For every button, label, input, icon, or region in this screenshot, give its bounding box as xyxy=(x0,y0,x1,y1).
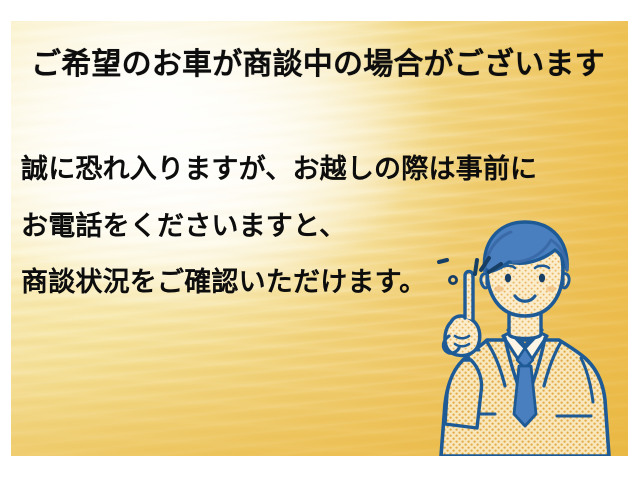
businessman-pointing-up-illustration xyxy=(425,218,625,456)
body-line-3: 商談状況をご確認いただけます。 xyxy=(21,269,426,296)
necktie xyxy=(514,348,536,426)
pointing-hand xyxy=(443,272,481,429)
headline-text: ご希望のお車が商談中の場合がございます xyxy=(31,50,605,80)
poster-canvas: ご希望のお車が商談中の場合がございます 誠に恐れ入りますが、お越しの際は事前に … xyxy=(0,0,640,480)
body-line-2: お電話をくださいますと、 xyxy=(21,213,346,240)
body-line-1: 誠に恐れ入りますが、お越しの際は事前に xyxy=(21,156,537,183)
